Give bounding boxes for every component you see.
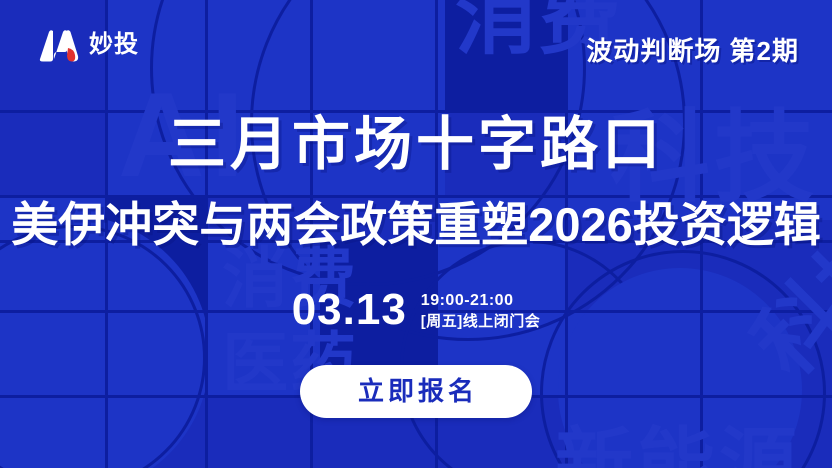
brand-logo[interactable]: 妙投	[38, 28, 139, 62]
event-time-range: 19:00-21:00	[421, 292, 541, 310]
series-eyebrow: 波动判断场 第2期	[586, 38, 799, 64]
page-subtitle: 美伊冲突与两会政策重塑2026投资逻辑	[0, 198, 832, 252]
event-date: 03.13	[292, 288, 407, 332]
event-time-column: 19:00-21:00 [周五]线上闭门会	[421, 289, 541, 330]
bg-watermark-xinnengyuan: 新能源	[555, 425, 801, 468]
event-format: [周五]线上闭门会	[421, 314, 541, 331]
brand-name: 妙投	[89, 33, 139, 57]
cta-container: 立即报名	[0, 365, 832, 418]
register-button[interactable]: 立即报名	[300, 365, 532, 418]
page-title: 三月市场十字路口	[0, 112, 832, 179]
schedule-block: 03.13 19:00-21:00 [周五]线上闭门会	[0, 288, 832, 332]
promo-poster: AI 消费 科技 消费 医药 金融 新能源 科技 妙投 波动判断场 第2期 三月…	[0, 0, 832, 468]
miaotou-m-logo-icon	[38, 28, 80, 62]
